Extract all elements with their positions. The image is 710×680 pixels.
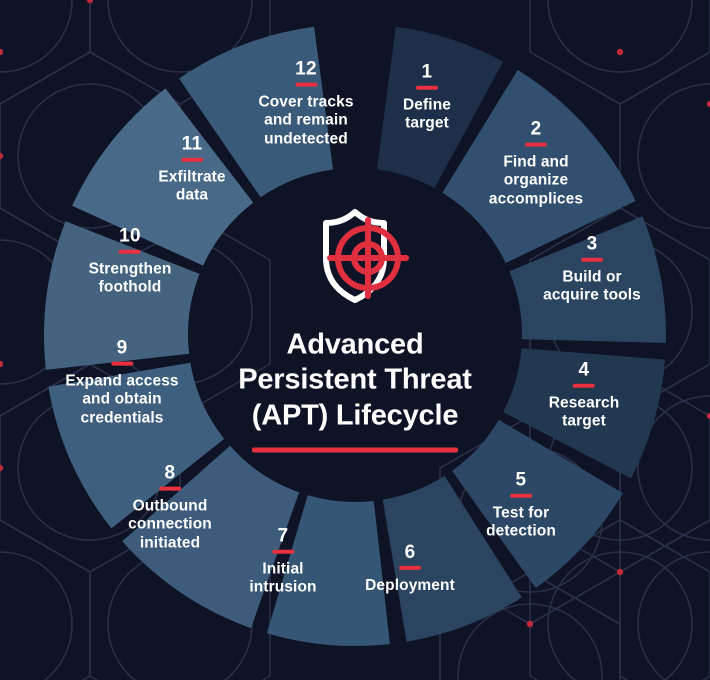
lifecycle-ring [0,0,710,680]
apt-lifecycle-infographic: Advanced Persistent Threat (APT) Lifecyc… [0,0,710,680]
